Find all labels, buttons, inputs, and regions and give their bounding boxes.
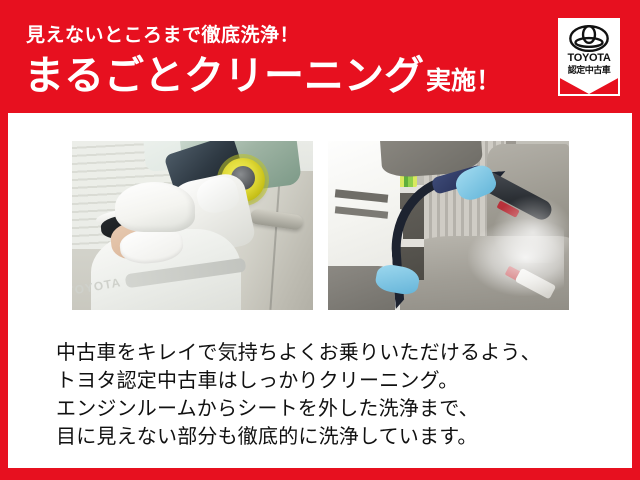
- photo-seat-steam-cleaning: [328, 141, 569, 310]
- technician-cap: [115, 182, 195, 233]
- banner-header: 見えないところまで徹底洗浄！ まるごとクリーニング 実施！ TOYOTA 認定中…: [0, 0, 640, 113]
- headline-suffix: 実施！: [424, 69, 501, 96]
- toyota-emblem-icon: [569, 25, 609, 52]
- body-line-3: エンジンルームからシートを外した洗浄まで、: [56, 395, 596, 423]
- toyota-certified-badge: TOYOTA 認定中古車: [558, 18, 620, 96]
- photo-gallery: TOYOTA: [72, 141, 570, 310]
- promo-banner: 見えないところまで徹底洗浄！ まるごとクリーニング 実施！ TOYOTA 認定中…: [0, 0, 640, 480]
- badge-subtitle: 認定中古車: [560, 66, 618, 75]
- header-kicker: 見えないところまで徹底洗浄！: [26, 26, 299, 45]
- badge-chevron-shape: [560, 72, 618, 94]
- steam-vapor-secondary: [492, 195, 569, 263]
- body-paragraph: 中古車をキレイで気持ちよくお乗りいただけるよう、 トヨタ認定中古車はしっかりクリ…: [56, 339, 596, 451]
- body-line-4: 目に見えない部分も徹底的に洗浄しています。: [56, 423, 596, 451]
- body-line-2: トヨタ認定中古車はしっかりクリーニング。: [56, 367, 596, 395]
- badge-inner: TOYOTA 認定中古車: [560, 20, 618, 94]
- content-card: TOYOTA: [8, 113, 632, 468]
- body-line-1: 中古車をキレイで気持ちよくお乗りいただけるよう、: [56, 339, 596, 367]
- badge-wordmark: TOYOTA: [560, 53, 618, 64]
- photo-exterior-polishing: TOYOTA: [72, 141, 313, 310]
- headline-row: まるごとクリーニング 実施！: [24, 56, 501, 96]
- headline-main: まるごとクリーニング: [24, 56, 424, 96]
